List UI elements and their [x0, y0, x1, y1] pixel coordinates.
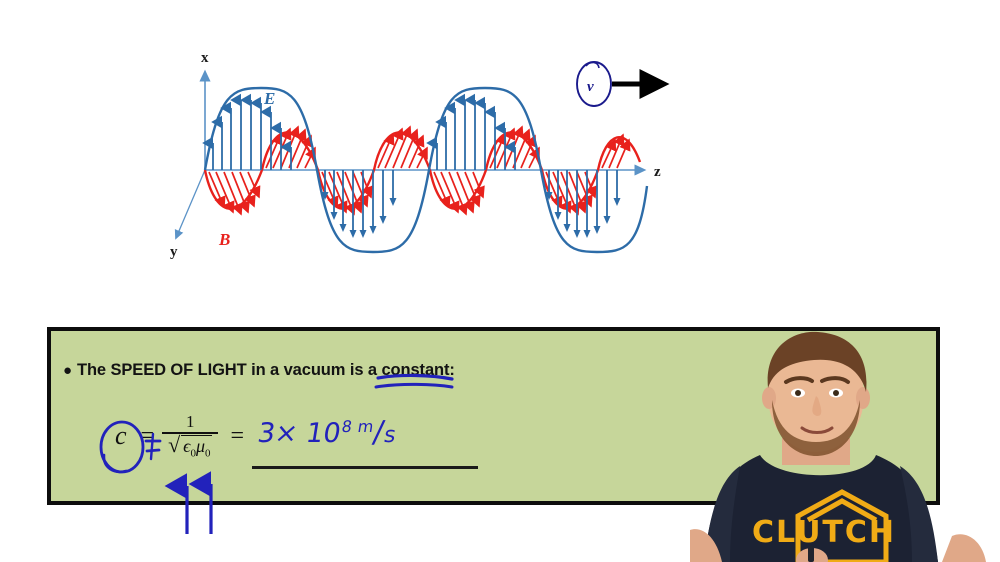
bullet-point-line: ●The SPEED OF LIGHT in a vacuum is a con…: [63, 361, 455, 380]
presenter-illustration: CLUTCH: [690, 330, 1000, 562]
y-axis-label: y: [170, 244, 178, 260]
magnetic-field-label: B⃗: [218, 230, 244, 249]
presenter-pupil-left: [795, 390, 801, 396]
speed-of-light-formula: c = 1 √ ϵ0μ0 =: [109, 413, 248, 460]
result-exponent: 8: [340, 417, 353, 436]
bullet-text: The SPEED OF LIGHT in a vacuum is a cons…: [77, 361, 455, 379]
formula-equals-2: =: [222, 423, 248, 450]
result-underline: [252, 466, 478, 469]
velocity-circle-tail: [586, 62, 599, 68]
presenter-arm-right: [942, 534, 986, 562]
formula-numerator: 1: [176, 413, 205, 432]
presenter-ear-left: [762, 387, 776, 409]
x-axis-label: x: [201, 50, 209, 66]
z-axis-label: z: [654, 164, 661, 180]
wave-diagram-svg: x y z E⃗ B⃗ v⃗: [0, 0, 700, 300]
formula-denominator: √ ϵ0μ0: [162, 434, 218, 460]
presenter-pen: [808, 546, 814, 562]
sqrt-icon: √: [168, 435, 180, 455]
result-unit-meters: m: [356, 417, 375, 436]
presenter-webcam: CLUTCH: [690, 330, 1000, 562]
velocity-vector-group: v⃗: [577, 62, 662, 106]
presenter-ear-right: [856, 387, 870, 409]
mu-subscript: 0: [205, 447, 211, 459]
formula-equals-1: =: [133, 423, 159, 450]
y-axis: [176, 170, 205, 238]
formula-variable-c: c: [109, 421, 133, 451]
bullet-marker-icon: ●: [63, 362, 72, 379]
result-coefficient: 3× 10: [255, 418, 343, 449]
radicand: ϵ0μ0: [181, 435, 212, 460]
clutch-shirt-text: CLUTCH: [752, 515, 896, 550]
presenter-pupil-right: [833, 390, 839, 396]
velocity-label: v⃗: [587, 79, 605, 95]
formula-fraction: 1 √ ϵ0μ0: [162, 413, 218, 460]
mu-symbol: μ: [196, 436, 205, 456]
handwritten-speed-value: 3× 108m/s: [255, 415, 399, 450]
electromagnetic-wave-diagram: x y z E⃗ B⃗ v⃗: [0, 0, 700, 300]
electric-field-label: E⃗: [263, 89, 289, 108]
